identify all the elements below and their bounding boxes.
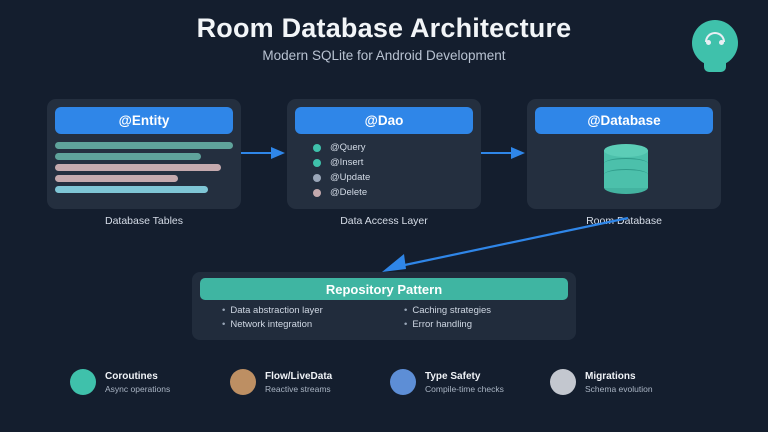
entity-field-bar-2 bbox=[55, 164, 221, 171]
repository-column-0: Data abstraction layerNetwork integratio… bbox=[200, 304, 384, 336]
stage-card-database-header: @Database bbox=[535, 107, 713, 134]
entity-field-bars bbox=[55, 141, 233, 201]
legend-text: CoroutinesAsync operations bbox=[105, 370, 170, 395]
bot-eye-right bbox=[719, 40, 724, 45]
stage-card-dao-header: @Dao bbox=[295, 107, 473, 134]
stage-card-dao[interactable]: @Dao @Query@Insert@Update@Delete bbox=[287, 99, 481, 209]
cylinder-ring-1 bbox=[604, 158, 648, 169]
dao-method-label: @Insert bbox=[330, 157, 363, 168]
dao-method-label: @Update bbox=[330, 172, 370, 183]
dao-method-row[interactable]: @Delete bbox=[295, 186, 473, 199]
legend-item: Flow/LiveDataReactive streams bbox=[230, 365, 390, 399]
repository-pattern-box[interactable]: Repository Pattern Data abstraction laye… bbox=[192, 272, 576, 340]
arrow-entity-to-dao bbox=[241, 147, 287, 159]
database-body bbox=[535, 141, 713, 201]
stage-caption-dao: Data Access Layer bbox=[287, 215, 481, 227]
android-bot-icon bbox=[692, 20, 738, 72]
legend-title: Type Safety bbox=[425, 370, 504, 383]
dao-method-dot-icon bbox=[313, 159, 321, 167]
cylinder-top bbox=[604, 144, 648, 157]
dao-method-list: @Query@Insert@Update@Delete bbox=[295, 141, 473, 201]
stage-caption-entity: Database Tables bbox=[47, 215, 241, 227]
arrow-dao-to-database bbox=[481, 147, 527, 159]
bot-neck bbox=[704, 54, 726, 72]
repository-feature-columns: Data abstraction layerNetwork integratio… bbox=[200, 304, 568, 336]
legend-color-swatch bbox=[550, 369, 576, 395]
legend-item: CoroutinesAsync operations bbox=[70, 365, 230, 399]
legend: CoroutinesAsync operationsFlow/LiveDataR… bbox=[70, 365, 710, 399]
repository-feature-item: Caching strategies bbox=[404, 304, 568, 318]
legend-subtitle: Reactive streams bbox=[265, 383, 332, 395]
dao-method-label: @Query bbox=[330, 142, 366, 153]
entity-field-bar-3 bbox=[55, 175, 178, 182]
repository-feature-item: Data abstraction layer bbox=[222, 304, 384, 318]
dao-method-dot-icon bbox=[313, 144, 321, 152]
legend-item: MigrationsSchema evolution bbox=[550, 365, 710, 399]
legend-title: Flow/LiveData bbox=[265, 370, 332, 383]
bot-eye-left bbox=[706, 40, 711, 45]
page-subtitle: Modern SQLite for Android Development bbox=[0, 48, 768, 63]
legend-subtitle: Compile-time checks bbox=[425, 383, 504, 395]
dao-method-row[interactable]: @Insert bbox=[295, 156, 473, 169]
legend-subtitle: Schema evolution bbox=[585, 383, 653, 395]
dao-method-dot-icon bbox=[313, 174, 321, 182]
legend-subtitle: Async operations bbox=[105, 383, 170, 395]
dao-method-row[interactable]: @Query bbox=[295, 141, 473, 154]
repository-feature-item: Error handling bbox=[404, 318, 568, 332]
legend-title: Coroutines bbox=[105, 370, 170, 383]
arrow-shaft bbox=[481, 152, 515, 154]
dao-method-row[interactable]: @Update bbox=[295, 171, 473, 184]
slide-canvas: Room Database Architecture Modern SQLite… bbox=[0, 0, 768, 432]
legend-item: Type SafetyCompile-time checks bbox=[390, 365, 550, 399]
entity-field-bar-1 bbox=[55, 153, 201, 160]
database-cylinder-icon bbox=[604, 144, 648, 194]
stage-caption-database: Room Database bbox=[527, 215, 721, 227]
legend-text: Type SafetyCompile-time checks bbox=[425, 370, 504, 395]
cylinder-ring-2 bbox=[604, 169, 648, 180]
legend-text: MigrationsSchema evolution bbox=[585, 370, 653, 395]
legend-title: Migrations bbox=[585, 370, 653, 383]
arrow-head bbox=[271, 147, 285, 159]
dao-method-dot-icon bbox=[313, 189, 321, 197]
dao-method-label: @Delete bbox=[330, 187, 367, 198]
stage-card-database[interactable]: @Database bbox=[527, 99, 721, 209]
repository-column-1: Caching strategiesError handling bbox=[384, 304, 568, 336]
repository-feature-item: Network integration bbox=[222, 318, 384, 332]
page-title: Room Database Architecture bbox=[0, 13, 768, 44]
arrow-head bbox=[511, 147, 525, 159]
arrow-shaft bbox=[241, 152, 275, 154]
entity-field-bar-4 bbox=[55, 186, 208, 193]
legend-text: Flow/LiveDataReactive streams bbox=[265, 370, 332, 395]
stage-card-entity-header: @Entity bbox=[55, 107, 233, 134]
legend-color-swatch bbox=[70, 369, 96, 395]
entity-field-bar-0 bbox=[55, 142, 233, 149]
legend-color-swatch bbox=[390, 369, 416, 395]
diagonal-arrow-head bbox=[382, 254, 406, 272]
repository-header: Repository Pattern bbox=[200, 278, 568, 300]
stage-card-entity[interactable]: @Entity bbox=[47, 99, 241, 209]
legend-color-swatch bbox=[230, 369, 256, 395]
